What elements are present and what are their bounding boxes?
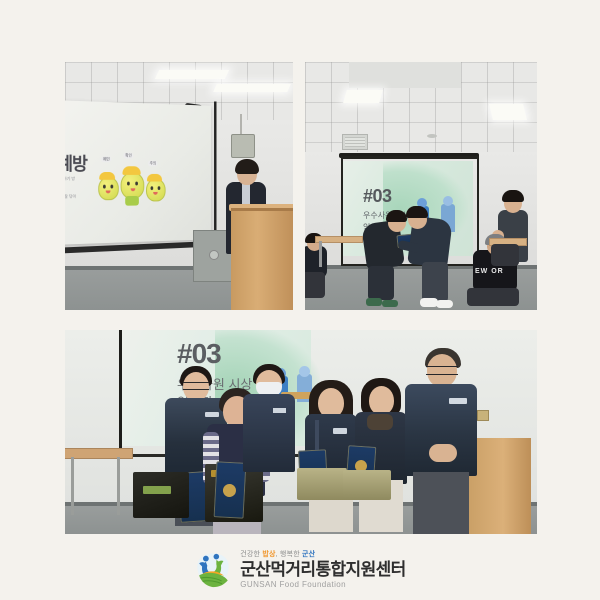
screen-frame — [119, 330, 122, 454]
photo-group-scene: #03 우수사원 시상 임용장 수여 — [65, 330, 537, 534]
award-presenter-figure — [406, 204, 454, 308]
photo-collage: 예방 과식하기 방 시면 잘 닦아 니까 예민 확인 주의 — [65, 62, 537, 534]
table-leg — [71, 457, 74, 515]
brand-name-english: GUNSAN Food Foundation — [240, 581, 405, 589]
gift-bag — [133, 472, 189, 518]
collar — [367, 414, 393, 430]
podium — [231, 208, 293, 310]
desk-leg — [319, 241, 322, 267]
uniform-logo — [273, 408, 286, 413]
brand-text-block: 건강한 밥상, 행복한 군산 군산먹거리통합지원센터 GUNSAN Food F… — [240, 551, 405, 589]
ceiling-sprinkler-icon — [427, 134, 437, 138]
slide-figure-head-icon — [299, 366, 310, 377]
ceiling-bulkhead — [349, 62, 461, 88]
ceiling-light — [155, 70, 229, 79]
awardee-figure — [243, 364, 295, 484]
wall-control-box — [231, 134, 255, 158]
ceiling-light — [489, 104, 527, 120]
jacket-text: EW OR — [475, 268, 504, 275]
ceiling-light — [343, 90, 383, 103]
logo-lockup: 건강한 밥상, 행복한 군산 군산먹거리통합지원센터 GUNSAN Food F… — [194, 551, 405, 589]
glasses-icon — [426, 366, 458, 375]
photo-lecture-scene: 예방 과식하기 방 시면 잘 닦아 니까 예민 확인 주의 — [65, 62, 293, 310]
tagline-part-1: 건강한 — [240, 551, 262, 558]
brand-tagline: 건강한 밥상, 행복한 군산 — [240, 551, 405, 558]
gift-bag — [297, 468, 347, 500]
podium — [469, 438, 531, 534]
lanyard — [315, 420, 319, 452]
table-leg — [117, 457, 120, 515]
certificate — [214, 461, 247, 518]
gift-bag — [343, 470, 391, 500]
recipient-figure — [362, 212, 402, 308]
footer-branding: 건강한 밥상, 행복한 군산 군산먹거리통합지원센터 GUNSAN Food F… — [0, 540, 600, 600]
ceiling-vent — [342, 134, 368, 150]
chair — [491, 244, 519, 266]
brand-name-korean: 군산먹거리통합지원센터 — [240, 561, 405, 578]
cabinet-knob — [209, 250, 219, 260]
tagline-part-3: , 행복한 — [276, 551, 302, 558]
uniform-logo — [333, 428, 347, 434]
folding-table — [65, 448, 133, 459]
tagline-part-2: 밥상 — [262, 551, 275, 558]
tagline-part-4: 군산 — [302, 551, 315, 558]
photo-group[interactable]: #03 우수사원 시상 임용장 수여 — [65, 330, 537, 534]
uniform-logo — [449, 398, 467, 404]
page-canvas: 예방 과식하기 방 시면 잘 닦아 니까 예민 확인 주의 — [0, 0, 600, 600]
photo-award-scene: #03 우수사원 시상 임용장 수여 — [305, 62, 537, 310]
clasped-hands — [429, 444, 457, 462]
gunsan-food-foundation-logo-icon — [194, 551, 232, 589]
photo-award[interactable]: #03 우수사원 시상 임용장 수여 — [305, 62, 537, 310]
wall-outlet — [477, 410, 489, 421]
conduit — [240, 114, 242, 136]
director-figure — [405, 348, 477, 534]
desk — [315, 236, 363, 243]
photo-lecture[interactable]: 예방 과식하기 방 시면 잘 닦아 니까 예민 확인 주의 — [65, 62, 293, 310]
ceiling-light — [213, 84, 291, 92]
